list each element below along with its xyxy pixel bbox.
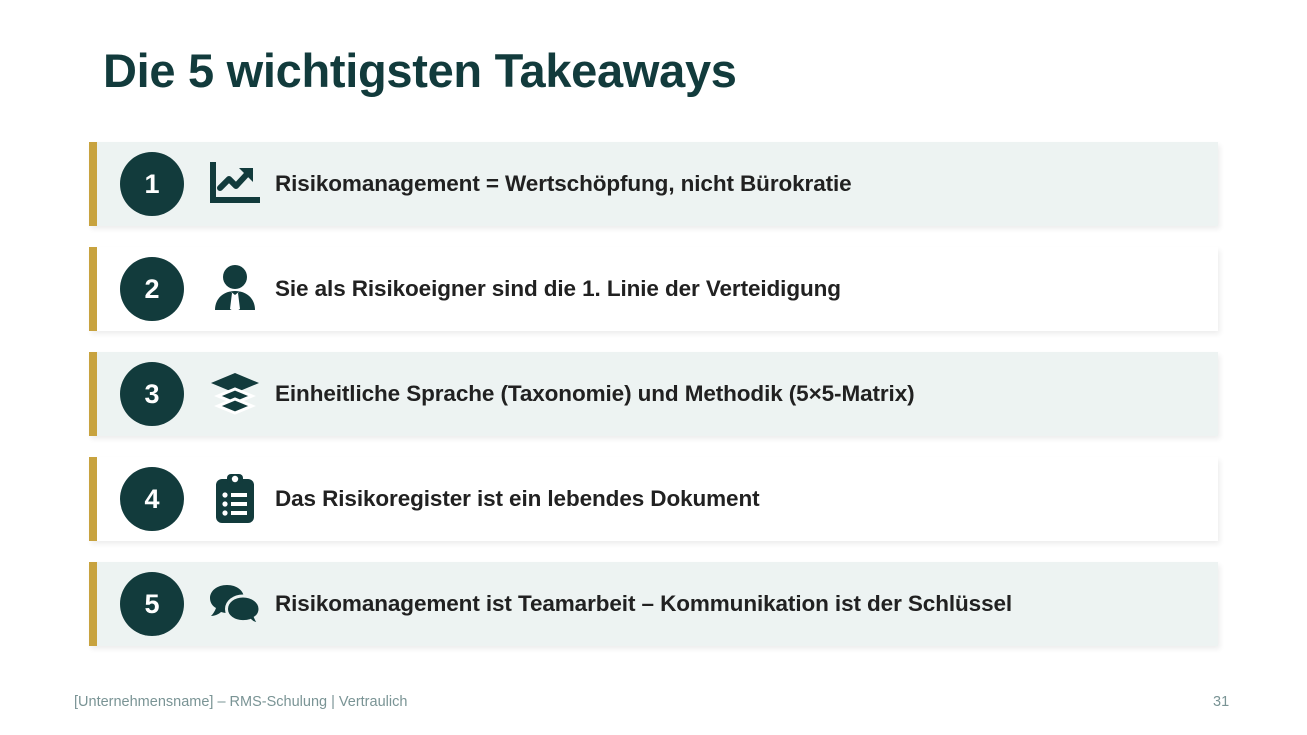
takeaway-text: Risikomanagement = Wertschöpfung, nicht … xyxy=(275,171,852,197)
chart-line-up-icon xyxy=(207,158,263,210)
takeaway-text: Risikomanagement ist Teamarbeit – Kommun… xyxy=(275,591,1012,617)
takeaway-text: Einheitliche Sprache (Taxonomie) und Met… xyxy=(275,381,915,407)
accent-bar xyxy=(89,247,97,331)
takeaway-number-badge: 4 xyxy=(120,467,184,531)
takeaway-number-badge: 1 xyxy=(120,152,184,216)
layers-stack-icon xyxy=(207,368,263,420)
page-number: 31 xyxy=(1213,694,1229,710)
takeaway-list: 1 Risikomanagement = Wertschöpfung, nich… xyxy=(89,142,1218,667)
takeaway-text: Das Risikoregister ist ein lebendes Doku… xyxy=(275,486,760,512)
footer-text: [Unternehmensname] – RMS-Schulung | Vert… xyxy=(74,694,407,710)
takeaway-text: Sie als Risikoeigner sind die 1. Linie d… xyxy=(275,276,841,302)
user-tie-icon xyxy=(207,263,263,315)
takeaway-row[interactable]: 5 Risikomanagement ist Teamarbeit – Komm… xyxy=(89,562,1218,646)
takeaway-number-badge: 3 xyxy=(120,362,184,426)
accent-bar xyxy=(89,457,97,541)
speech-bubbles-icon xyxy=(207,578,263,630)
page-title: Die 5 wichtigsten Takeaways xyxy=(103,44,737,98)
accent-bar xyxy=(89,352,97,436)
slide-canvas: Die 5 wichtigsten Takeaways 1 Risikomana… xyxy=(0,0,1307,735)
takeaway-row[interactable]: 2 Sie als Risikoeigner sind die 1. Linie… xyxy=(89,247,1218,331)
takeaway-row[interactable]: 1 Risikomanagement = Wertschöpfung, nich… xyxy=(89,142,1218,226)
takeaway-row[interactable]: 3 Einheitliche Sprache (Taxonomie) und M… xyxy=(89,352,1218,436)
accent-bar xyxy=(89,142,97,226)
clipboard-list-icon xyxy=(207,473,263,525)
takeaway-row[interactable]: 4 Das Risikoregister ist ein lebendes Do… xyxy=(89,457,1218,541)
takeaway-number-badge: 5 xyxy=(120,572,184,636)
accent-bar xyxy=(89,562,97,646)
takeaway-number-badge: 2 xyxy=(120,257,184,321)
